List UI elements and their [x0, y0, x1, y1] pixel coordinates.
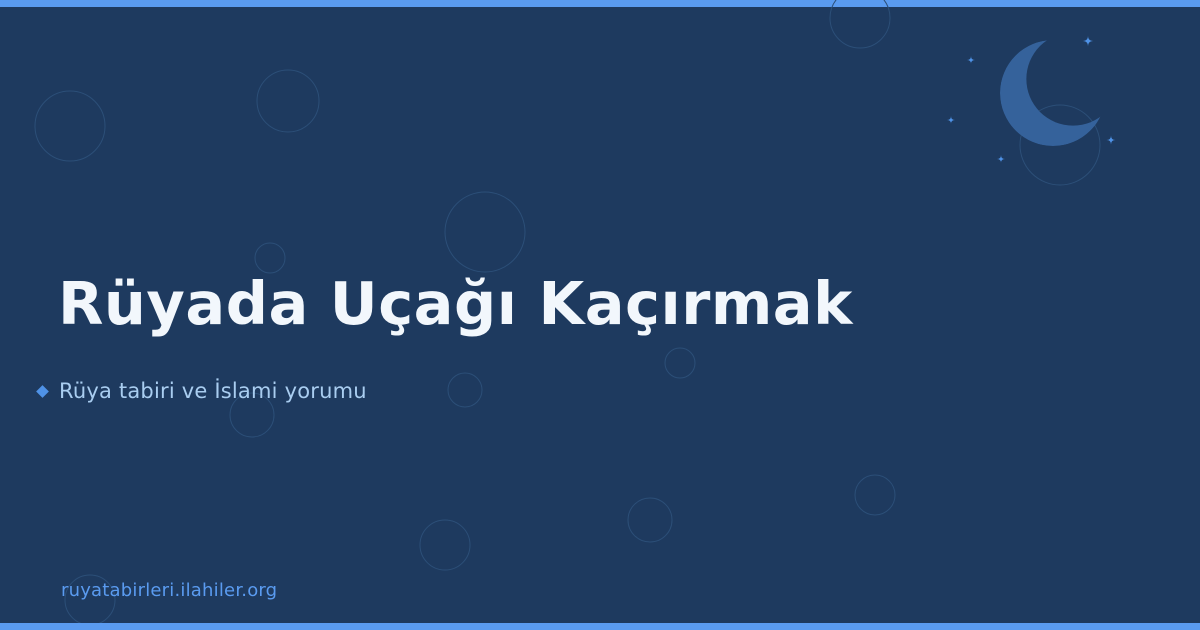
diamond-bullet-icon	[36, 385, 49, 398]
share-card: Rüyada Uçağı Kaçırmak Rüya tabiri ve İsl…	[0, 0, 1200, 630]
bottom-accent-bar	[0, 623, 1200, 630]
card-content: Rüyada Uçağı Kaçırmak Rüya tabiri ve İsl…	[0, 0, 1200, 630]
page-subtitle: Rüya tabiri ve İslami yorumu	[59, 379, 367, 403]
site-url-label: ruyatabirleri.ilahiler.org	[61, 580, 277, 601]
subtitle-row: Rüya tabiri ve İslami yorumu	[38, 379, 367, 403]
page-title: Rüyada Uçağı Kaçırmak	[58, 272, 853, 337]
